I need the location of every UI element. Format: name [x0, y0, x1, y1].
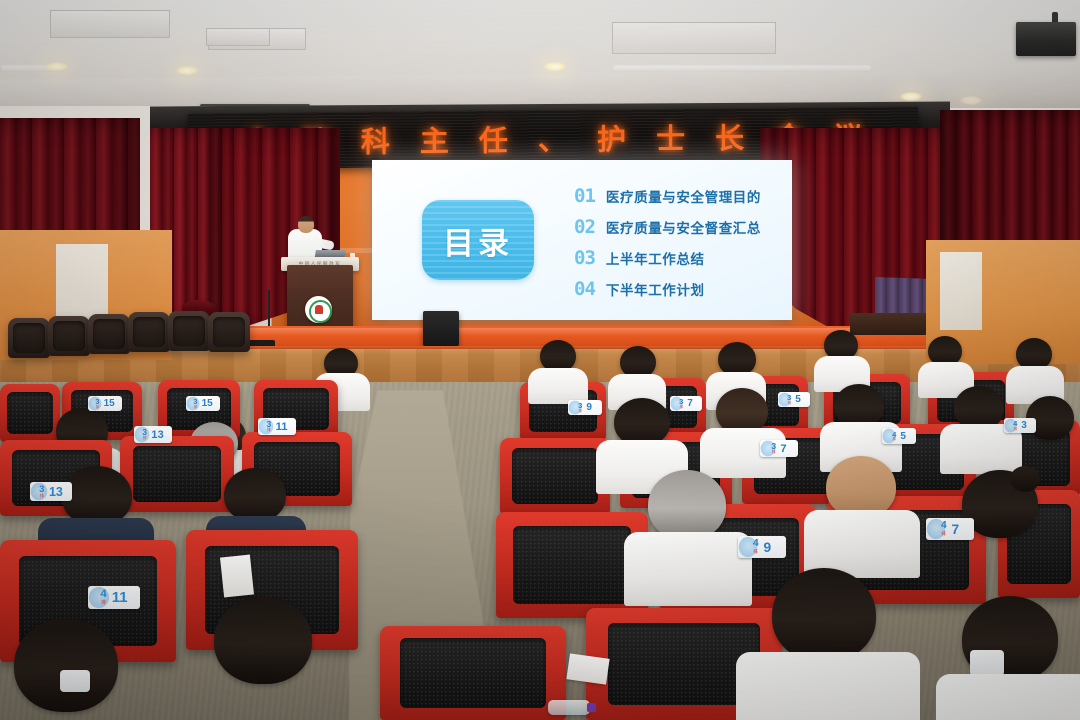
handout-paper: [566, 653, 609, 684]
plate-seat-number: 7: [952, 522, 960, 537]
slide-item: 01 医疗质量与安全管理目的: [574, 185, 761, 207]
seat-empty: [8, 318, 50, 358]
seat-number-plate: 4排3: [1004, 418, 1036, 433]
plate-row-word: 排: [40, 494, 44, 498]
plate-seat-number: 5: [900, 431, 906, 442]
seat-number-plate: 4排5: [882, 428, 916, 444]
plate-seat-number: 11: [276, 421, 288, 433]
slide-item-label: 医疗质量与安全督查汇总: [606, 217, 761, 237]
seat-number-plate: 4排11: [88, 586, 140, 609]
seat-number-plate: 4排7: [926, 518, 974, 540]
downlight-4: [46, 62, 68, 71]
seat-empty: [48, 316, 90, 356]
plate-row-word: 排: [143, 437, 147, 441]
seat: [120, 436, 234, 512]
seat: [0, 384, 60, 442]
slide-item: 04 下半年工作计划: [574, 278, 761, 300]
seat-number-plate: 3排9: [568, 400, 602, 415]
slide-item-list: 01 医疗质量与安全管理目的 02 医疗质量与安全督查汇总 03 上半年工作总结…: [574, 181, 761, 300]
seat-number-plate: 3排13: [30, 482, 72, 501]
plate-row-word: 排: [788, 402, 791, 405]
plate-row-number: 4: [100, 589, 106, 600]
seat-empty: [168, 311, 210, 351]
ceiling-vent-far-right: [612, 22, 776, 54]
plate-seat-number: 13: [49, 485, 63, 499]
seat: [500, 438, 610, 514]
downlight-2: [544, 62, 566, 71]
slide-badge-label: 目录: [443, 218, 513, 263]
water-bottle-floor: [548, 700, 590, 715]
ceiling-projector: [1016, 22, 1076, 56]
seat-number-plate: 3排13: [134, 426, 172, 443]
slide-item-number: 02: [574, 216, 595, 238]
seat-number-plate: 3排11: [258, 418, 296, 435]
auditorium-photo: 全 院 科 主 任 、 护 士 长 会 议 目录 01 医疗质量与安全管理目的 …: [0, 0, 1080, 720]
plate-row-badge: 3排: [267, 420, 272, 432]
slide-item-label: 医疗质量与安全管理目的: [606, 186, 761, 206]
slide-item: 03 上半年工作总结: [574, 247, 761, 269]
ceiling-vent-right: [206, 28, 270, 46]
plate-row-word: 排: [1014, 428, 1017, 431]
stage-floor-sheen: [150, 328, 940, 336]
plate-seat-number: 7: [687, 398, 693, 409]
seat-empty: [128, 312, 170, 352]
plate-row-badge: 3排: [787, 394, 791, 405]
plate-row-badge: 4排: [892, 431, 896, 442]
plate-seat-number: 15: [104, 398, 115, 409]
seat-number-plate: 3排15: [88, 396, 122, 411]
plate-row-word: 排: [680, 406, 683, 409]
seat-empty: [88, 314, 130, 354]
slide-item-number: 01: [574, 185, 595, 207]
seat-number-plate: 3排7: [760, 440, 798, 457]
plate-row-badge: 3排: [679, 398, 683, 409]
plate-seat-number: 7: [780, 443, 786, 455]
seat-empty: [208, 312, 250, 352]
ceiling-vent-left: [50, 10, 170, 38]
slide-badge: 目录: [422, 200, 534, 280]
downlight-5: [960, 96, 982, 105]
plate-row-badge: 3排: [142, 428, 147, 440]
presenter-head: [298, 216, 314, 233]
handout-paper: [220, 555, 254, 598]
plate-row-word: 排: [941, 532, 946, 537]
seat-number-plate: 3排5: [778, 392, 810, 407]
plate-row-badge: 3排: [39, 485, 44, 499]
seat-number-plate: 3排7: [670, 396, 702, 411]
ceiling-light-slot-1: [612, 64, 872, 72]
slide-item-label: 上半年工作总结: [606, 248, 705, 268]
plate-row-badge: 3排: [771, 442, 776, 454]
plate-row-badge: 4排: [753, 539, 759, 554]
plate-seat-number: 13: [151, 429, 164, 441]
wall-panel-right: [940, 252, 982, 330]
plate-row-badge: 4排: [100, 589, 106, 605]
plate-seat-number: 15: [202, 398, 213, 409]
plate-row-badge: 3排: [95, 398, 99, 409]
stage-monitor: [423, 311, 459, 346]
plate-row-badge: 3排: [578, 402, 582, 413]
plate-row-word: 排: [893, 438, 896, 441]
plate-row-badge: 4排: [1013, 420, 1017, 431]
slide-item: 02 医疗质量与安全督查汇总: [574, 216, 761, 238]
projection-screen: 目录 01 医疗质量与安全管理目的 02 医疗质量与安全督查汇总 03 上半年工…: [372, 160, 792, 320]
plate-row-word: 排: [772, 451, 776, 455]
downlight-3: [900, 92, 922, 101]
slide-item-number: 04: [574, 278, 595, 300]
slide-item-number: 03: [574, 247, 595, 269]
plate-seat-number: 9: [764, 540, 772, 555]
plate-seat-number: 3: [1021, 420, 1027, 431]
slide-contents: 目录 01 医疗质量与安全管理目的 02 医疗质量与安全督查汇总 03 上半年工…: [372, 160, 792, 320]
plate-seat-number: 9: [586, 402, 592, 413]
downlight-1: [176, 66, 198, 75]
plate-row-word: 排: [579, 410, 582, 413]
plate-row-word: 排: [267, 429, 271, 433]
seat: [380, 626, 566, 720]
plate-row-word: 排: [96, 406, 99, 409]
plate-row-badge: 3排: [193, 398, 197, 409]
hospital-emblem-icon: [305, 296, 332, 323]
plate-seat-number: 11: [112, 589, 128, 606]
plate-row-word: 排: [101, 601, 106, 606]
plate-row-word: 排: [194, 406, 197, 409]
slide-item-label: 下半年工作计划: [606, 279, 705, 299]
plate-row-word: 排: [753, 550, 758, 555]
plate-row-badge: 4排: [941, 521, 947, 536]
seat-number-plate: 3排15: [186, 396, 220, 411]
plate-seat-number: 5: [795, 394, 801, 405]
seat-number-plate: 4排9: [738, 536, 786, 558]
